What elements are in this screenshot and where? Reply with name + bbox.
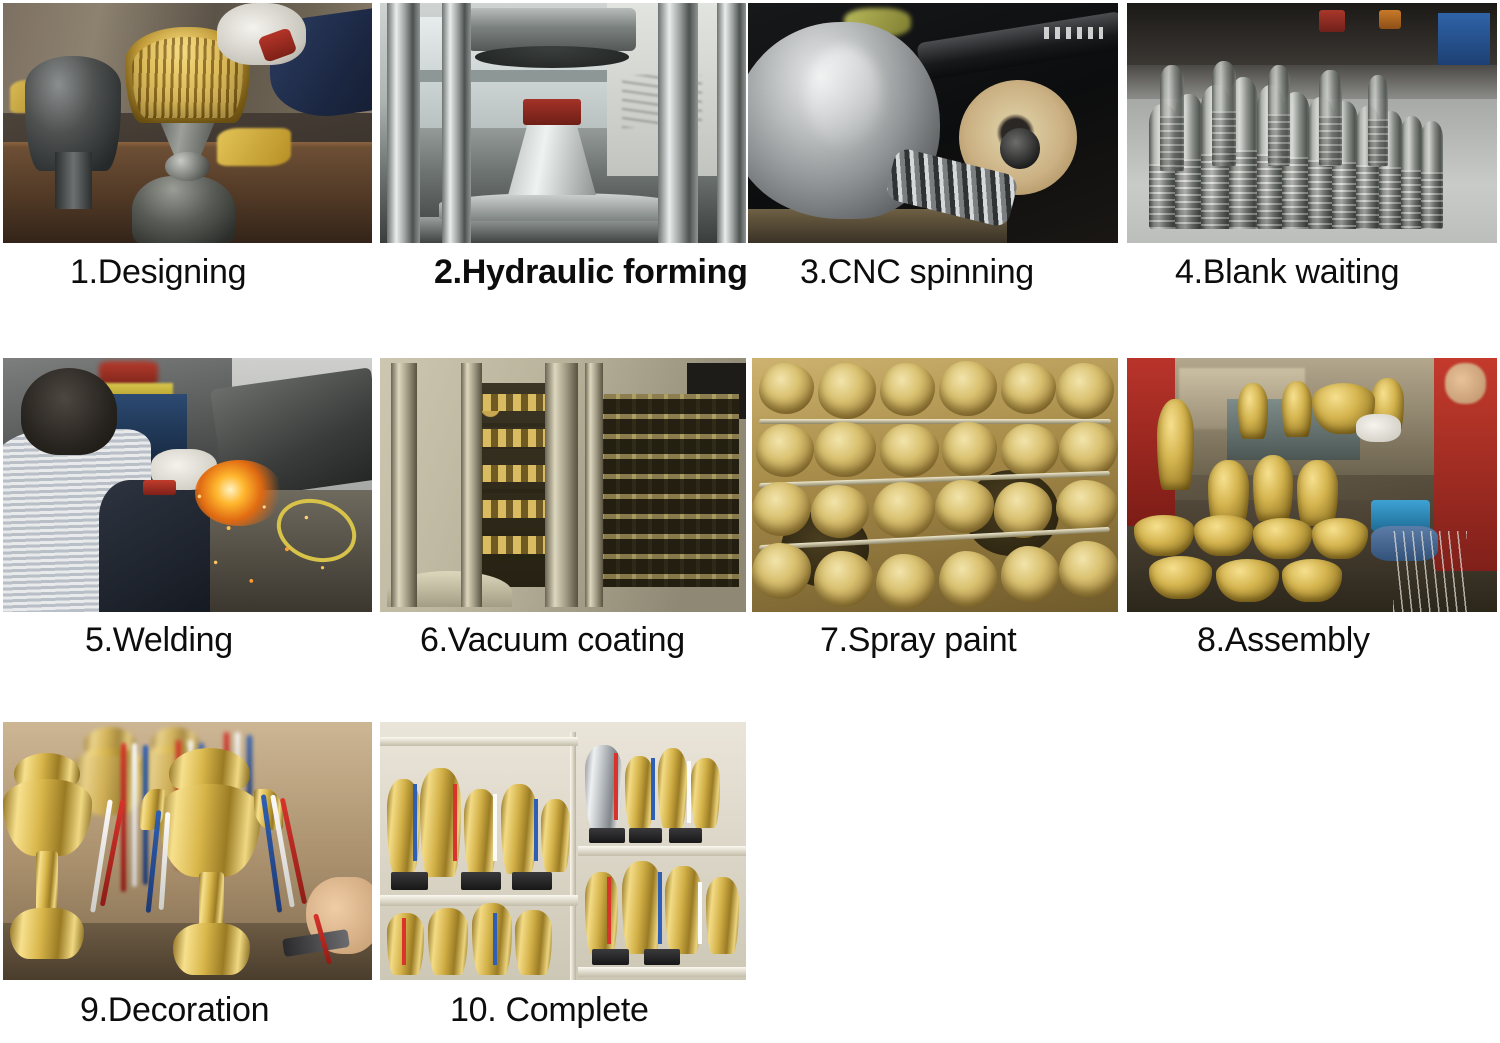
spray-paint-photo <box>752 358 1118 612</box>
welding-photo <box>3 358 372 612</box>
step-6-image[interactable] <box>380 358 746 612</box>
step-5-caption: 5.Welding <box>85 621 233 660</box>
step-8-image[interactable] <box>1127 358 1497 612</box>
step-6-caption: 6.Vacuum coating <box>420 621 685 660</box>
step-9-image[interactable] <box>3 722 372 980</box>
hydraulic-forming-photo <box>380 3 746 243</box>
step-10-image[interactable] <box>380 722 746 980</box>
step-1-image[interactable] <box>3 3 372 243</box>
step-2-image[interactable] <box>380 3 746 243</box>
step-8-caption: 8.Assembly <box>1197 621 1370 660</box>
step-3-image[interactable] <box>748 3 1118 243</box>
step-9-caption: 9.Decoration <box>80 991 269 1030</box>
step-7-caption: 7.Spray paint <box>820 621 1016 660</box>
step-4-caption: 4.Blank waiting <box>1175 253 1399 292</box>
cnc-spinning-photo <box>748 3 1118 243</box>
process-gallery: 1.Designing 2.Hydraulic forming <box>0 0 1500 1043</box>
step-2-caption: 2.Hydraulic forming <box>434 253 748 292</box>
vacuum-coating-photo <box>380 358 746 612</box>
decoration-photo <box>3 722 372 980</box>
step-3-caption: 3.CNC spinning <box>800 253 1034 292</box>
step-1-caption: 1.Designing <box>70 253 246 292</box>
step-7-image[interactable] <box>752 358 1118 612</box>
blank-waiting-photo <box>1127 3 1497 243</box>
step-10-caption: 10. Complete <box>450 991 649 1030</box>
step-4-image[interactable] <box>1127 3 1497 243</box>
step-5-image[interactable] <box>3 358 372 612</box>
complete-photo <box>380 722 746 980</box>
assembly-photo <box>1127 358 1497 612</box>
designing-photo <box>3 3 372 243</box>
